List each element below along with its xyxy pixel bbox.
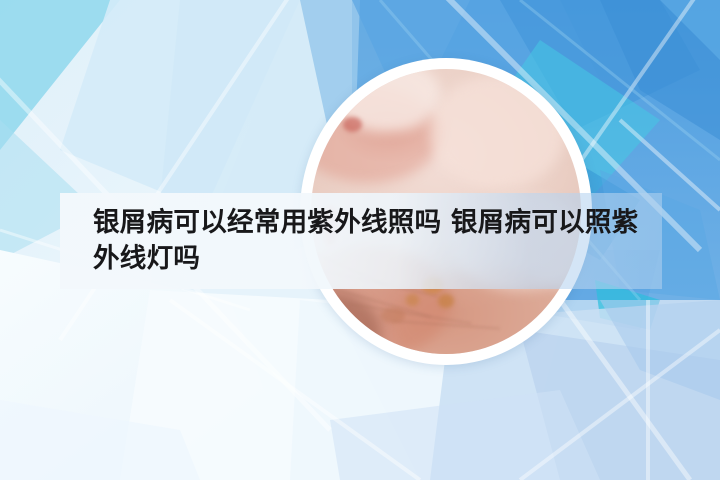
- headline-title: 银屑病可以经常用紫外线照吗 银屑病可以照紫外线灯吗: [93, 205, 659, 277]
- cover-image-canvas: 银屑病可以经常用紫外线照吗 银屑病可以照紫外线灯吗: [0, 0, 720, 480]
